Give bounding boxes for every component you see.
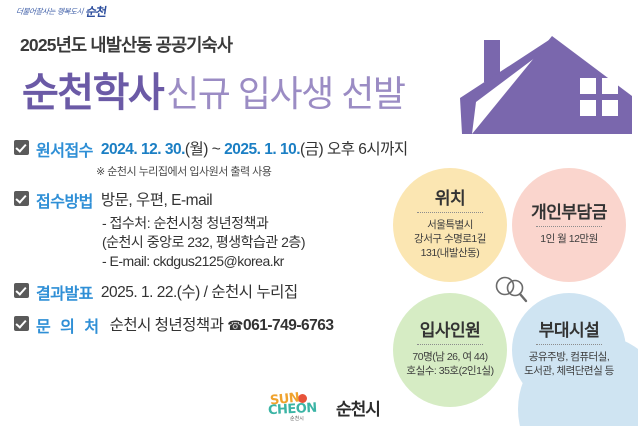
info-circle-location-body: 서울특별시 강서구 수명로1길 131(내발산동) <box>414 218 486 261</box>
checklist-label-contact: 문 의 처 <box>36 313 102 337</box>
divider <box>417 212 483 213</box>
application-date-start: 2024. 12. 30. <box>101 141 185 158</box>
city-slogan-logo: 더불어잘사는 행복도시 순천 <box>16 1 128 21</box>
checkbox-checked-icon <box>14 191 29 206</box>
city-logo-name: 순천시 <box>336 395 380 420</box>
poster-canvas: 더불어잘사는 행복도시 순천 2025년도 내발산동 공공기숙사 순천학사 신규… <box>0 0 638 426</box>
checkbox-checked-icon <box>14 316 29 331</box>
info-circle-location-title: 위치 <box>435 190 465 207</box>
application-date-end: 2025. 1. 10. <box>224 141 300 158</box>
poster-title: 순천학사 신규 입사생 선발 <box>22 60 405 118</box>
city-logo: SUN CHEON 순천시 순천시 <box>268 392 380 422</box>
checklist-value-application-period: 2024. 12. 30.(월) ~ 2025. 1. 10.(금) 오후 6시… <box>101 137 408 159</box>
telephone-icon: ☎ <box>227 318 243 333</box>
checklist-item-submission-method: 접수방법 방문, 우편, E-mail <box>14 188 414 212</box>
submission-office-line: - 접수처: 순천시청 청년정책과 <box>102 214 414 233</box>
info-circle-cost-title: 개인부담금 <box>531 204 607 221</box>
poster-subtitle: 2025년도 내발산동 공공기숙사 <box>20 32 232 57</box>
poster-title-strong: 순천학사 <box>22 71 163 115</box>
slogan-city-mark: 순천 <box>85 3 107 20</box>
application-day-start: (월) <box>185 141 208 158</box>
contact-phone-number: 061-749-6763 <box>243 317 334 334</box>
contact-department: 순천시 청년정책과 <box>110 317 224 334</box>
checklist-item-contact: 문 의 처 순천시 청년정책과 ☎061-749-6763 <box>14 313 414 337</box>
info-circle-capacity-title: 입사인원 <box>420 322 481 339</box>
divider <box>417 344 483 345</box>
submission-email-line: - E-mail: ckdgus2125@korea.kr <box>102 252 414 271</box>
city-logo-mark: SUN CHEON 순천시 <box>268 392 330 422</box>
announcement-checklist: 원서접수 2024. 12. 30.(월) ~ 2025. 1. 10.(금) … <box>14 137 414 339</box>
checklist-value-contact: 순천시 청년정책과 ☎061-749-6763 <box>110 313 334 335</box>
divider <box>536 344 602 345</box>
checklist-value-result-announcement: 2025. 1. 22.(수) / 순천시 누리집 <box>101 280 298 302</box>
logo-caption-text: 순천시 <box>290 415 304 422</box>
date-range-tilde: ~ <box>212 141 221 158</box>
application-deadline-time: 오후 6시까지 <box>327 141 408 158</box>
application-day-end: (금) <box>300 141 323 158</box>
info-circle-facility-title: 부대시설 <box>539 322 600 339</box>
info-circle-cost-body: 1인 월 12만원 <box>540 232 598 246</box>
checklist-label-submission-method: 접수방법 <box>36 188 93 212</box>
checklist-label-application-period: 원서접수 <box>36 137 93 161</box>
poster-title-light: 신규 입사생 선발 <box>166 73 404 114</box>
divider <box>536 226 602 227</box>
application-note: ※ 순천시 누리집에서 입사원서 출력 사용 <box>96 163 414 179</box>
checklist-item-application-period: 원서접수 2024. 12. 30.(월) ~ 2025. 1. 10.(금) … <box>14 137 414 161</box>
checklist-item-result-announcement: 결과발표 2025. 1. 22.(수) / 순천시 누리집 <box>14 280 414 304</box>
checklist-label-result-announcement: 결과발표 <box>36 280 93 304</box>
checkbox-checked-icon <box>14 140 29 155</box>
info-circle-facility-body: 공유주방, 컴퓨터실, 도서관, 체력단련실 등 <box>524 350 614 378</box>
submission-address-line: (순천시 중앙로 232, 평생학습관 2층) <box>102 233 414 252</box>
info-circle-capacity-body: 70명(남 26, 여 44) 호실수: 35호(2인1실) <box>406 350 493 378</box>
slogan-script-text: 더불어잘사는 행복도시 <box>15 6 83 17</box>
info-circle-cost: 개인부담금 1인 월 12만원 <box>512 168 626 282</box>
checklist-value-submission-method: 방문, 우편, E-mail <box>101 188 212 210</box>
magnifier-icon <box>492 272 532 308</box>
info-circle-capacity: 입사인원 70명(남 26, 여 44) 호실수: 35호(2인1실) <box>393 293 507 407</box>
checkbox-checked-icon <box>14 283 29 298</box>
info-circle-location: 위치 서울특별시 강서구 수명로1길 131(내발산동) <box>393 168 507 282</box>
submission-detail-lines: - 접수처: 순천시청 청년정책과 (순천시 중앙로 232, 평생학습관 2층… <box>102 214 414 271</box>
house-icon <box>432 36 632 136</box>
info-circle-facility: 부대시설 공유주방, 컴퓨터실, 도서관, 체력단련실 등 <box>512 293 626 407</box>
